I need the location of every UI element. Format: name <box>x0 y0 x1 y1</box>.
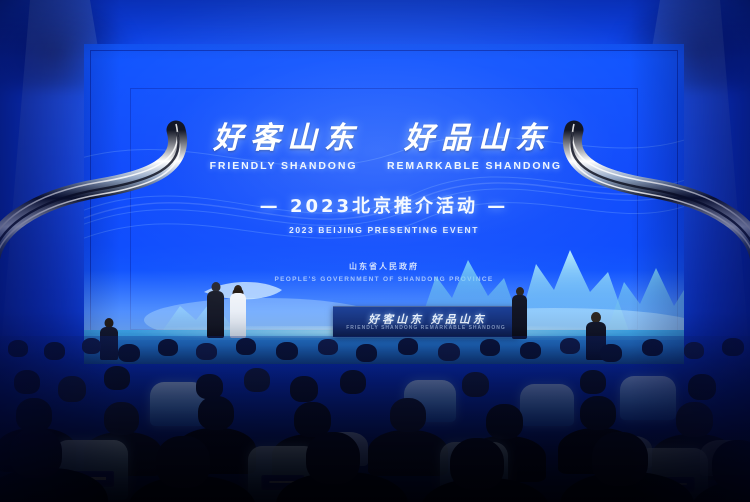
audience-head <box>560 338 580 354</box>
audience-head <box>8 340 28 357</box>
audience-head <box>676 402 713 437</box>
podium-text-en: FRIENDLY SHANDONG REMARKABLE SHANDONG <box>333 325 519 331</box>
audience-head <box>104 402 139 435</box>
audience-head <box>198 396 234 430</box>
subtitle-en: 2023 BEIJING PRESENTING EVENT <box>84 225 684 235</box>
audience-head <box>462 372 489 397</box>
audience-head <box>580 396 616 430</box>
title-en-remarkable: REMARKABLE SHANDONG <box>387 160 562 172</box>
audience-head-front <box>10 428 62 478</box>
organizer-cn: 山东省人民政府 <box>84 261 684 272</box>
audience-head <box>684 342 704 359</box>
title-unit-remarkable: 好品山东 REMARKABLE SHANDONG <box>387 122 562 172</box>
subtitle-cn: — 2023北京推介活动 — <box>84 192 684 218</box>
audience-head-front <box>156 436 210 488</box>
person-male-host <box>207 282 224 338</box>
speaker-body <box>512 295 527 339</box>
title-cn-remarkable: 好品山东 <box>387 122 562 156</box>
audience-head <box>318 339 338 355</box>
chair-cover <box>520 384 574 426</box>
event-photo-scene: 好客山东 FRIENDLY SHANDONG 好品山东 REMARKABLE S… <box>0 0 750 502</box>
audience-head <box>398 338 418 355</box>
audience-head-front <box>306 432 360 484</box>
audience-head <box>58 376 86 402</box>
person-female-host <box>230 285 246 338</box>
main-title-row: 好客山东 FRIENDLY SHANDONG 好品山东 REMARKABLE S… <box>84 122 684 172</box>
audience-head <box>580 370 606 394</box>
female-host-body <box>230 293 246 338</box>
audience-area <box>0 336 750 502</box>
audience-head <box>356 344 377 362</box>
audience-head <box>118 344 140 362</box>
audience-head <box>480 339 500 356</box>
chair-cover <box>620 376 676 420</box>
audience-head-front <box>450 438 504 490</box>
led-screen: 好客山东 FRIENDLY SHANDONG 好品山东 REMARKABLE S… <box>84 44 684 340</box>
audience-head <box>642 339 663 356</box>
person-speaker <box>512 287 527 339</box>
audience-head <box>244 368 270 392</box>
audience-head <box>44 342 65 360</box>
title-cn-friendly: 好客山东 <box>206 122 361 156</box>
audience-head <box>276 342 298 360</box>
audience-head <box>390 398 426 432</box>
audience-head <box>438 343 460 361</box>
audience-head <box>486 404 523 439</box>
title-en-friendly: FRIENDLY SHANDONG <box>206 160 361 172</box>
audience-head <box>196 343 217 360</box>
audience-shoulders <box>368 430 448 476</box>
audience-head <box>104 366 130 390</box>
audience-head <box>688 374 716 400</box>
audience-head <box>14 370 40 394</box>
audience-head <box>290 376 318 402</box>
audience-head <box>82 338 101 354</box>
audience-head <box>158 339 178 356</box>
audience-head <box>16 398 52 432</box>
audience-head <box>236 338 256 355</box>
audience-head-front <box>592 432 648 486</box>
audience-head <box>340 370 366 394</box>
audience-head-front <box>712 440 750 490</box>
led-text-block: 好客山东 FRIENDLY SHANDONG 好品山东 REMARKABLE S… <box>84 122 684 283</box>
podium-banner: 好客山东 好品山东 FRIENDLY SHANDONG REMARKABLE S… <box>333 306 519 337</box>
male-host-body <box>207 291 224 338</box>
audience-head <box>600 344 622 362</box>
title-unit-friendly: 好客山东 FRIENDLY SHANDONG <box>206 122 361 172</box>
organizer-en: PEOPLE'S GOVERNMENT OF SHANDONG PROVINCE <box>84 276 684 283</box>
audience-head <box>722 338 744 356</box>
audience-head <box>520 342 541 359</box>
